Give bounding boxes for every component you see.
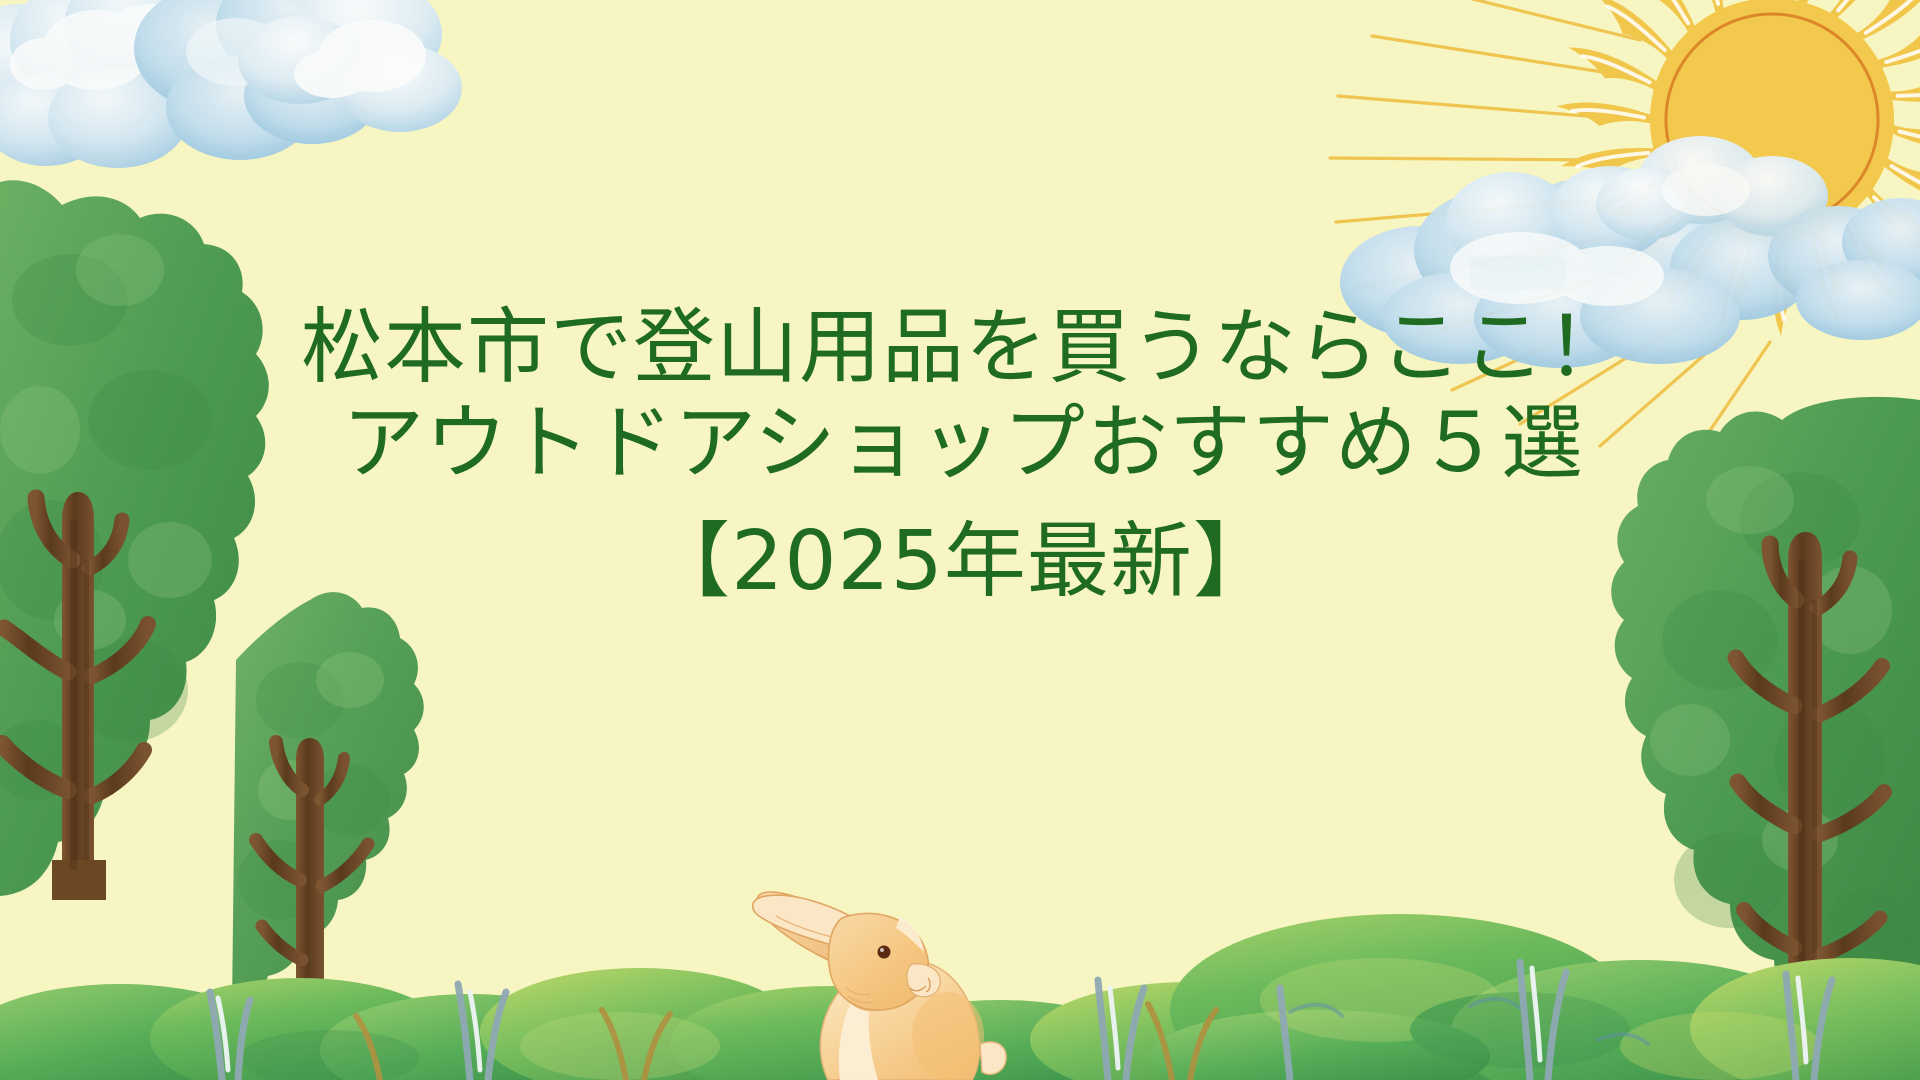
title-line-3: 【2025年最新】: [4, 514, 1920, 610]
eyecatch-banner: 松本市で登山用品を買うならここ！ アウトドアショップおすすめ５選 【2025年最…: [0, 0, 1920, 1080]
title-line-2: アウトドアショップおすすめ５選: [6, 396, 1920, 492]
title-line-1: 松本市で登山用品を買うならここ！: [10, 300, 1920, 396]
page-title: 松本市で登山用品を買うならここ！ アウトドアショップおすすめ５選 【2025年最…: [0, 300, 1920, 610]
grass-tufts: [210, 962, 1832, 1080]
